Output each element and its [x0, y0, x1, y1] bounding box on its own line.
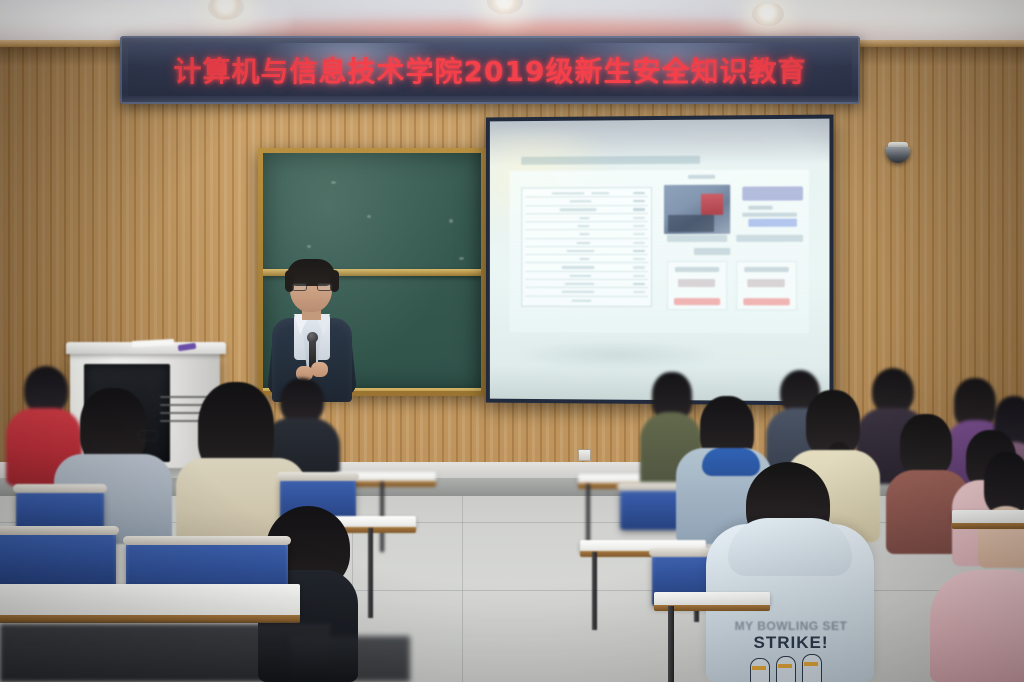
foreground-shadow — [0, 624, 330, 682]
hood — [728, 518, 852, 576]
slide-card-button — [743, 298, 790, 306]
slide-data-table — [522, 187, 652, 307]
chalk-mark — [331, 181, 336, 184]
hair — [984, 452, 1024, 514]
presenter-hand-right — [311, 362, 328, 377]
slide-subheading — [694, 248, 730, 255]
bowling-pin-icon — [776, 656, 796, 682]
classroom-photo: 计算机与信息技术学院2019级新生安全知识教育 — [0, 0, 1024, 682]
clothing — [930, 570, 1024, 682]
chair — [620, 486, 682, 530]
projection-surface — [490, 119, 830, 402]
slide-photo-red-block — [701, 194, 723, 216]
chalk-mark — [367, 215, 371, 218]
slide-stat-card — [736, 261, 797, 310]
bowling-pin-icon — [802, 654, 822, 682]
screen-smudge — [517, 341, 720, 370]
slide-caption — [736, 235, 803, 242]
slide-photo-thumbnail — [664, 185, 730, 234]
desk-leg — [668, 606, 674, 682]
hair — [80, 388, 146, 464]
hoodie-print-strike: STRIKE! — [724, 634, 858, 652]
projected-slide — [510, 170, 809, 334]
led-banner: 计算机与信息技术学院2019级新生安全知识教育 — [120, 36, 860, 104]
desk — [952, 510, 1024, 524]
dome-security-camera — [885, 142, 911, 164]
presenter-hair — [287, 259, 335, 286]
presenter-glasses — [317, 283, 332, 291]
presenter-glasses — [292, 283, 307, 291]
desk — [654, 592, 770, 606]
ceiling-spotlight — [752, 2, 784, 26]
ceiling-spotlight — [487, 0, 523, 14]
glasses — [138, 430, 158, 441]
slide-card-title — [744, 267, 788, 272]
desk — [0, 584, 300, 616]
student-white-hoodie-strike: MY BOWLING SET STRIKE! — [706, 462, 874, 682]
bowling-pin-icon — [750, 658, 770, 682]
wall-power-outlet — [578, 449, 591, 461]
slide-right-heading — [688, 175, 715, 179]
slide-stat-card — [667, 261, 727, 310]
banner-title-text: 计算机与信息技术学院2019级新生安全知识教育 — [174, 50, 807, 90]
chalk-mark — [307, 245, 311, 248]
foreground-shadow — [290, 636, 410, 682]
led-banner-panel: 计算机与信息技术学院2019级新生安全知识教育 — [128, 43, 852, 96]
desk-leg — [592, 552, 597, 630]
slide-caption — [667, 235, 727, 242]
slide-card-value — [748, 279, 785, 287]
chalk-mark — [449, 219, 453, 223]
slide-photo-dark-block — [668, 215, 714, 232]
slide-table-title — [522, 156, 700, 165]
hair — [900, 414, 952, 476]
camera-dome — [886, 147, 910, 163]
tile-seam — [462, 478, 463, 682]
slide-text-line — [748, 206, 772, 210]
slide-blue-button — [748, 219, 796, 227]
projection-screen — [486, 115, 834, 406]
slide-card-title — [675, 267, 719, 272]
chair — [0, 530, 116, 588]
slide-header-bar — [742, 186, 803, 201]
chalk-mark — [459, 257, 464, 260]
microphone-head — [307, 332, 318, 343]
slide-card-value — [678, 279, 715, 287]
slide-text-line — [742, 212, 796, 216]
slide-card-button — [674, 298, 720, 306]
hoodie-print-top-line: MY BOWLING SET — [724, 620, 858, 633]
student-pink-sweater — [930, 560, 1024, 682]
desk-leg — [368, 528, 373, 618]
